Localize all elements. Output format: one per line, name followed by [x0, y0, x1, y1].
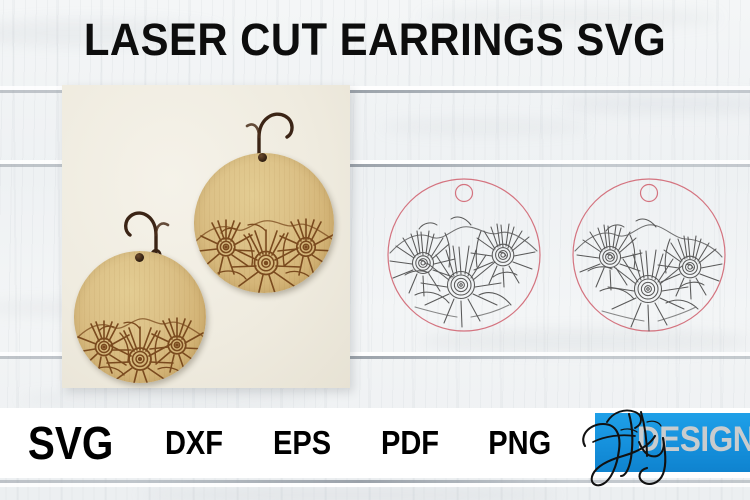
- cut-file-left: [385, 175, 543, 335]
- right-earring-sunflower-engraving: [194, 207, 334, 293]
- file-formats-list: SVG DXF EPS PDF PNG: [22, 408, 562, 478]
- right-earring: [194, 95, 342, 295]
- left-earring-sunflower-engraving: [74, 303, 206, 383]
- cut-file-right-hole: [641, 185, 658, 202]
- left-earring: [74, 195, 209, 385]
- cut-file-right: [570, 175, 728, 335]
- page-title: LASER CUT EARRINGS SVG: [26, 14, 724, 66]
- brand-logo: DESIGN: [565, 408, 750, 478]
- format-png: PNG: [489, 424, 552, 462]
- format-pdf: PDF: [381, 424, 439, 462]
- product-photo-card: [62, 85, 350, 388]
- cut-file-right-engraving: [575, 219, 722, 331]
- left-earring-bead: [135, 253, 144, 262]
- format-dxf: DXF: [165, 424, 223, 462]
- right-earring-disc: [194, 153, 334, 293]
- product-mockup-canvas: LASER CUT EARRINGS SVG: [0, 0, 750, 500]
- right-earring-bead: [258, 153, 267, 162]
- cut-file-left-hole: [456, 185, 473, 202]
- format-svg: SVG: [28, 416, 113, 470]
- left-earring-disc: [74, 251, 206, 383]
- format-eps: EPS: [273, 424, 331, 462]
- brand-logo-script-fly: [577, 402, 687, 488]
